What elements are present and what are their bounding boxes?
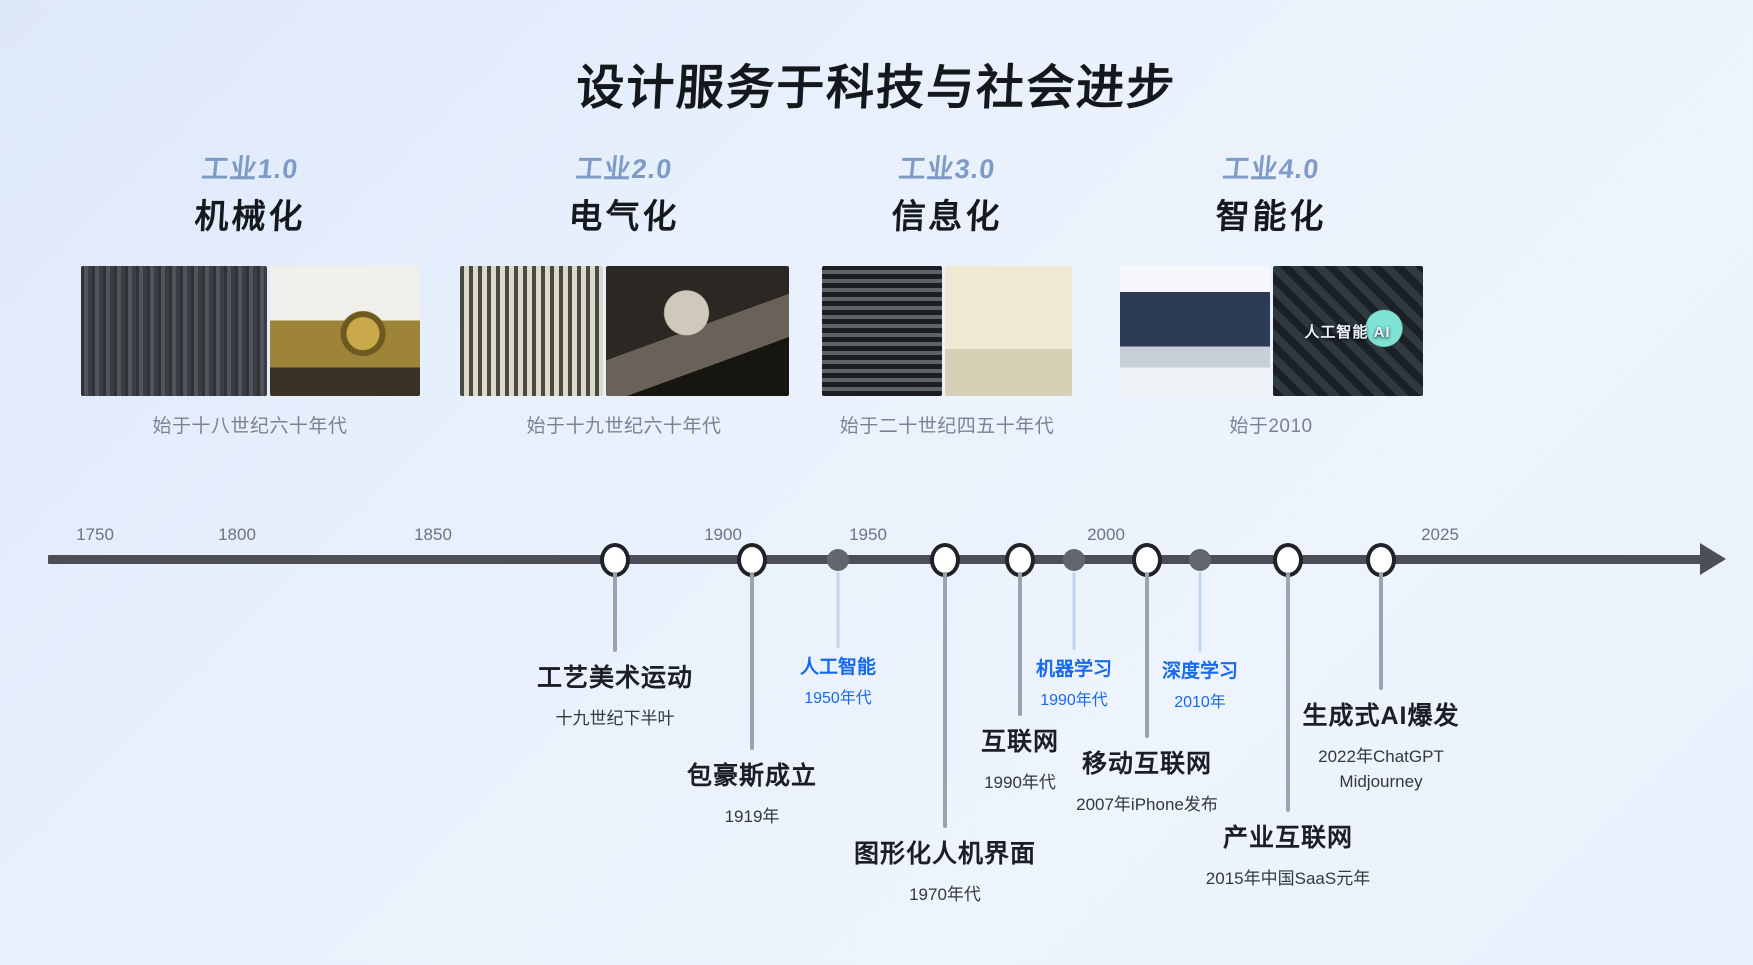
era-caption-4: 始于2010 [1081, 411, 1461, 438]
year-tick-1950: 1950 [849, 525, 887, 545]
era-column-4: 工业4.0智能化人工智能 AI始于2010 [1081, 155, 1461, 438]
era-caption-1: 始于十八世纪六十年代 [60, 411, 440, 438]
event-title-5: 互联网 [981, 722, 1059, 758]
typewriter-illustration [460, 266, 603, 396]
event-title-6: 机器学习 [1036, 654, 1112, 681]
event-subtitle-4: 1970年代 [854, 883, 1036, 908]
timeline-connector-2 [750, 572, 754, 750]
event-label-7[interactable]: 移动互联网2007年iPhone发布 [1076, 744, 1218, 818]
timeline-marker-3[interactable] [827, 549, 849, 571]
era-name-4: 智能化 [1080, 199, 1462, 236]
timeline-connector-9 [1286, 572, 1290, 812]
event-subtitle-10: 2022年ChatGPTMidjourney [1302, 745, 1459, 794]
timeline-connector-10 [1379, 572, 1383, 690]
era-images-3 [757, 266, 1137, 396]
timeline-axis [48, 555, 1708, 564]
timeline-marker-6[interactable] [1063, 549, 1085, 571]
event-label-8[interactable]: 深度学习2010年 [1162, 656, 1238, 714]
page-title: 设计服务于科技与社会进步 [0, 48, 1753, 118]
event-subtitle-1: 十九世纪下半叶 [537, 707, 693, 732]
event-label-1[interactable]: 工艺美术运动十九世纪下半叶 [537, 658, 693, 732]
event-title-4: 图形化人机界面 [854, 834, 1036, 870]
right-arrow-icon [1700, 543, 1726, 575]
event-label-2[interactable]: 包豪斯成立1919年 [687, 756, 817, 830]
year-tick-1850: 1850 [414, 525, 452, 545]
event-title-10: 生成式AI爆发 [1302, 696, 1459, 732]
event-subtitle-8: 2010年 [1162, 691, 1238, 714]
event-label-3[interactable]: 人工智能1950年代 [800, 652, 876, 710]
timeline-connector-1 [613, 572, 617, 652]
year-tick-1900: 1900 [704, 525, 742, 545]
ai-robot-photo: 人工智能 AI [1273, 266, 1423, 396]
event-title-1: 工艺美术运动 [537, 658, 693, 694]
event-subtitle-6: 1990年代 [1036, 689, 1112, 712]
year-tick-1750: 1750 [76, 525, 114, 545]
event-title-2: 包豪斯成立 [687, 756, 817, 792]
timeline-connector-4 [943, 572, 947, 828]
era-column-1: 工业1.0机械化始于十八世纪六十年代 [60, 155, 440, 438]
timeline-marker-8[interactable] [1189, 549, 1211, 571]
era-images-4: 人工智能 AI [1081, 266, 1461, 396]
era-tag-1: 工业1.0 [58, 155, 441, 185]
year-tick-1800: 1800 [218, 525, 256, 545]
timeline-connector-6 [1073, 572, 1076, 650]
era-images-1 [60, 266, 440, 396]
event-title-3: 人工智能 [800, 652, 876, 679]
event-subtitle-2: 1919年 [687, 805, 817, 830]
event-label-6[interactable]: 机器学习1990年代 [1036, 654, 1112, 712]
mainframe-computer-photo [822, 266, 942, 396]
era-tag-4: 工业4.0 [1079, 155, 1462, 185]
steam-engine-photo [270, 266, 420, 396]
infographic-canvas: 设计服务于科技与社会进步 工业1.0机械化始于十八世纪六十年代工业2.0电气化始… [0, 0, 1753, 965]
event-subtitle-9: 2015年中国SaaS元年 [1206, 867, 1370, 892]
year-tick-2025: 2025 [1421, 525, 1459, 545]
laptop-devices-photo [1120, 266, 1270, 396]
event-title-7: 移动互联网 [1076, 744, 1218, 780]
era-name-1: 机械化 [59, 199, 441, 236]
spinning-loom-photo [81, 266, 267, 396]
event-subtitle-7: 2007年iPhone发布 [1076, 793, 1218, 818]
event-subtitle-3: 1950年代 [800, 687, 876, 710]
era-column-3: 工业3.0信息化始于二十世纪四五十年代 [757, 155, 1137, 438]
event-label-4[interactable]: 图形化人机界面1970年代 [854, 834, 1036, 908]
ai-image-caption: 人工智能 AI [1273, 266, 1423, 396]
year-tick-2000: 2000 [1087, 525, 1125, 545]
event-label-9[interactable]: 产业互联网2015年中国SaaS元年 [1206, 818, 1370, 892]
event-title-8: 深度学习 [1162, 656, 1238, 683]
timeline-connector-5 [1018, 572, 1022, 716]
event-title-9: 产业互联网 [1206, 818, 1370, 854]
timeline-connector-8 [1199, 572, 1202, 652]
event-subtitle-5: 1990年代 [981, 771, 1059, 796]
event-label-10[interactable]: 生成式AI爆发2022年ChatGPTMidjourney [1302, 696, 1459, 794]
event-label-5[interactable]: 互联网1990年代 [981, 722, 1059, 796]
macintosh-computer-photo [945, 266, 1072, 396]
era-caption-3: 始于二十世纪四五十年代 [757, 411, 1137, 438]
timeline-connector-3 [837, 572, 840, 648]
timeline-connector-7 [1145, 572, 1149, 738]
